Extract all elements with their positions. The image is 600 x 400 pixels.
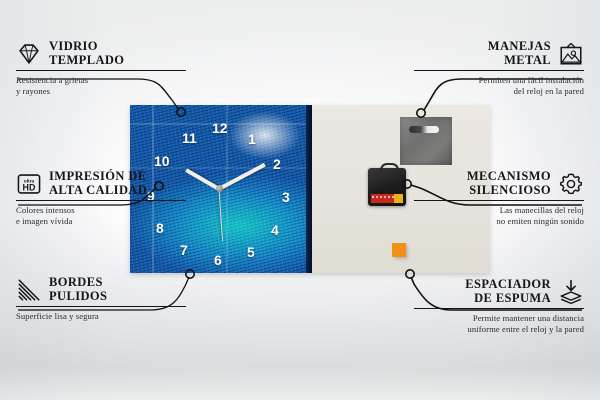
- callout-header: MANEJAS METAL: [414, 40, 584, 67]
- clock-numeral-4: 4: [271, 223, 279, 237]
- callout-divider: [414, 70, 584, 71]
- callout-subtitle-line2: y rayones: [16, 86, 186, 97]
- callout-subtitle-line1: Permite mantener una distancia: [414, 313, 584, 324]
- callout-header: MECANISMO SILENCIOSO: [414, 170, 584, 197]
- polished-edge-icon: [16, 277, 42, 303]
- callout-title: MECANISMO SILENCIOSO: [467, 170, 551, 197]
- callout-header: ultra HD IMPRESIÓN DE ALTA CALIDAD: [16, 170, 186, 197]
- callout-bordes-pulidos: BORDES PULIDOS Superficie lisa y segura: [16, 276, 186, 322]
- callout-title: ESPACIADOR DE ESPUMA: [465, 278, 551, 305]
- svg-text:HD: HD: [23, 182, 36, 192]
- callout-subtitle-line1: Colores intensos: [16, 205, 186, 216]
- clock-numeral-2: 2: [273, 157, 281, 171]
- hanger-slot: [409, 126, 439, 133]
- clock-numeral-12: 12: [212, 121, 228, 135]
- callout-mecanismo-silencioso: MECANISMO SILENCIOSO Las manecillas del …: [414, 170, 584, 227]
- callout-vidrio-templado: VIDRIO TEMPLADO Resistencia a grietas y …: [16, 40, 186, 97]
- callout-divider: [414, 200, 584, 201]
- callout-espaciador-espuma: ESPACIADOR DE ESPUMA Permite mantener un…: [414, 278, 584, 335]
- callout-subtitle-line1: Resistencia a grietas: [16, 75, 186, 86]
- callout-manejas-metal: MANEJAS METAL Permiten una fácil instala…: [414, 40, 584, 97]
- picture-hanger-icon: [558, 41, 584, 67]
- callout-subtitle-line1: Permiten una fácil instalación: [414, 75, 584, 86]
- callout-title: VIDRIO TEMPLADO: [49, 40, 124, 67]
- clock-numeral-10: 10: [154, 154, 170, 168]
- clock-numeral-6: 6: [214, 253, 222, 267]
- callout-title: MANEJAS METAL: [488, 40, 551, 67]
- mechanism-battery-label: [371, 194, 403, 203]
- clock-mechanism: [368, 168, 406, 206]
- callout-subtitle-line2: uniforme entre el reloj y la pared: [414, 324, 584, 335]
- callout-subtitle-line2: del reloj en la pared: [414, 86, 584, 97]
- callout-subtitle-line1: Superficie lisa y segura: [16, 311, 186, 322]
- clock-center-cap: [216, 185, 223, 192]
- gear-icon: [558, 171, 584, 197]
- clock-numeral-7: 7: [180, 243, 188, 257]
- callout-divider: [16, 70, 186, 71]
- callout-divider: [414, 308, 584, 309]
- diamond-icon: [16, 41, 42, 67]
- mechanism-hanging-loop: [380, 163, 399, 173]
- callout-title: BORDES PULIDOS: [49, 276, 107, 303]
- foam-spacer-icon: [558, 279, 584, 305]
- callout-header: ESPACIADOR DE ESPUMA: [414, 278, 584, 305]
- clock-numeral-1: 1: [248, 132, 256, 146]
- hanger-plate: [400, 117, 452, 165]
- callout-header: VIDRIO TEMPLADO: [16, 40, 186, 67]
- callout-divider: [16, 306, 186, 307]
- callout-title: IMPRESIÓN DE ALTA CALIDAD: [49, 170, 147, 197]
- callout-impresion-alta-calidad: ultra HD IMPRESIÓN DE ALTA CALIDAD Color…: [16, 170, 186, 227]
- callout-subtitle-line1: Las manecillas del reloj: [414, 205, 584, 216]
- callout-header: BORDES PULIDOS: [16, 276, 186, 303]
- ultra-hd-icon: ultra HD: [16, 171, 42, 197]
- infographic-stage: 12 1 2 3 4 5 6 7 8 9 10 11: [0, 0, 600, 400]
- callout-subtitle-line2: no emiten ningún sonido: [414, 216, 584, 227]
- foam-spacer-pad: [392, 243, 406, 257]
- callout-subtitle-line2: e imagen vívida: [16, 216, 186, 227]
- clock-numeral-11: 11: [182, 131, 197, 145]
- clock-numeral-3: 3: [282, 190, 290, 204]
- callout-divider: [16, 200, 186, 201]
- clock-numeral-5: 5: [247, 245, 255, 259]
